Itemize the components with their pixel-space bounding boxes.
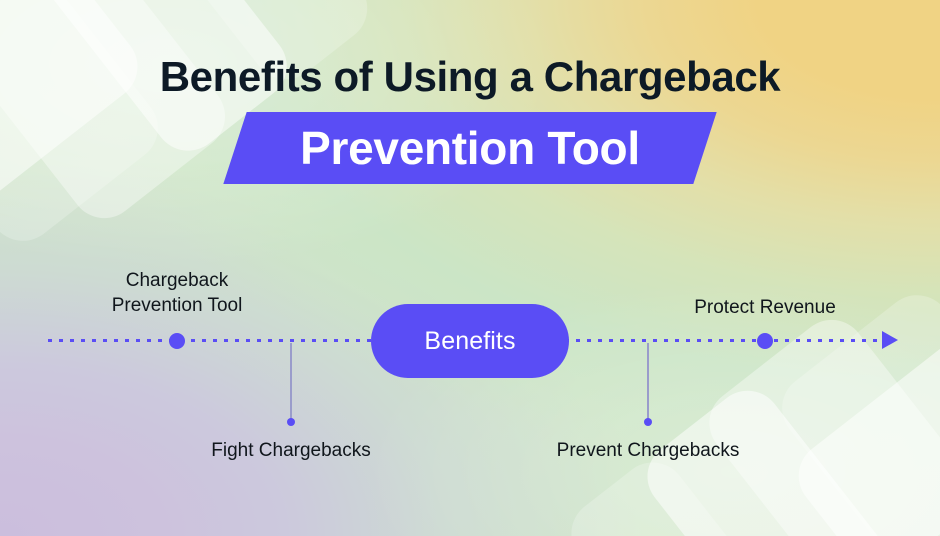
timeline-label-chargeback-prevention-tool: Chargeback Prevention Tool: [112, 268, 243, 318]
timeline-arrow-icon: [882, 331, 898, 349]
center-node-label: Benefits: [371, 304, 569, 378]
timeline-node-marker-fight-chargebacks[interactable]: [287, 418, 295, 426]
timeline-diagram: Chargeback Prevention Tool Fight Chargeb…: [0, 0, 940, 536]
timeline-connector-fight-chargebacks: [290, 343, 292, 422]
timeline-label-prevent-chargebacks: Prevent Chargebacks: [557, 438, 740, 463]
timeline-node-marker-prevent-chargebacks[interactable]: [644, 418, 652, 426]
timeline-node-marker-chargeback-prevention-tool[interactable]: [169, 333, 185, 349]
timeline-label-fight-chargebacks: Fight Chargebacks: [211, 438, 370, 463]
label-line-1: Chargeback: [112, 268, 243, 293]
label-line-1: Prevent Chargebacks: [557, 438, 740, 463]
timeline-connector-prevent-chargebacks: [647, 343, 649, 422]
label-line-1: Fight Chargebacks: [211, 438, 370, 463]
center-node-pill[interactable]: Benefits: [371, 304, 569, 378]
timeline-node-marker-protect-revenue[interactable]: [757, 333, 773, 349]
label-line-2: Prevention Tool: [112, 293, 243, 318]
infographic-canvas: Benefits of Using a Chargeback Preventio…: [0, 0, 940, 536]
timeline-label-protect-revenue: Protect Revenue: [694, 295, 836, 320]
label-line-1: Protect Revenue: [694, 295, 836, 320]
